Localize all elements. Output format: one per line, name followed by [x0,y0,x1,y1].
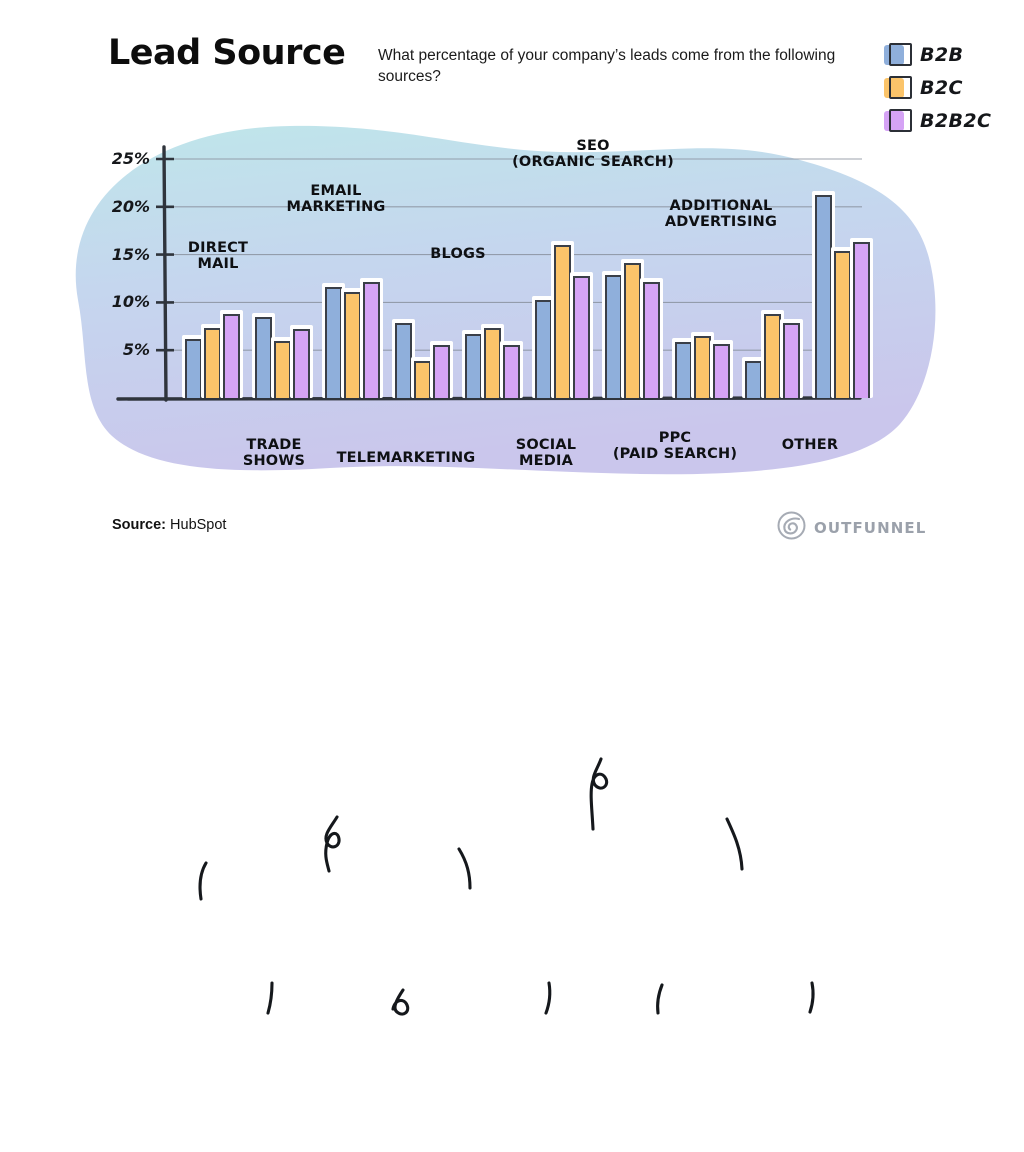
infographic-canvas: Lead Source What percentage of your comp… [0,0,1024,576]
bar-b2b2c-blogs[interactable] [503,345,520,398]
category-label-seo-organic-search: SEO (ORGANIC SEARCH) [490,138,696,170]
bar-b2c-additional-advertising[interactable] [764,314,781,398]
bar-b2c-telemarketing[interactable] [414,361,431,398]
bar-b2b2c-direct-mail[interactable] [223,314,240,398]
bar-b2b2c-email-marketing[interactable] [363,282,380,398]
y-tick-15: 15% [104,245,150,264]
bar-b2b2c-telemarketing[interactable] [433,345,450,398]
category-label-direct-mail: DIRECT MAIL [160,240,276,272]
bar-b2b-seo-organic-search[interactable] [605,275,622,398]
brand-name: OUTFUNNEL [814,519,926,537]
y-tick-25: 25% [104,149,150,168]
legend: B2B B2C B2B2C [884,38,991,137]
y-tick-10: 10% [104,292,150,311]
category-label-telemarketing: TELEMARKETING [326,450,486,466]
bar-b2b-trade-shows[interactable] [255,317,272,398]
bar-b2c-ppc-paid-search[interactable] [694,336,711,398]
y-tick-20: 20% [104,197,150,216]
page-title: Lead Source [108,33,345,73]
bar-b2c-social-media[interactable] [554,245,571,398]
bar-b2b-direct-mail[interactable] [185,339,202,398]
bar-b2c-trade-shows[interactable] [274,341,291,398]
bar-b2b-other[interactable] [815,195,832,398]
bar-b2c-email-marketing[interactable] [344,292,361,398]
bar-b2b-additional-advertising[interactable] [745,361,762,398]
source-value: HubSpot [170,517,226,533]
bar-b2b-blogs[interactable] [465,334,482,398]
source-label: Source: [112,517,166,533]
bar-b2b2c-seo-organic-search[interactable] [643,282,660,398]
bar-b2c-other[interactable] [834,251,851,398]
bar-b2b-ppc-paid-search[interactable] [675,342,692,398]
bar-b2c-blogs[interactable] [484,328,501,398]
outfunnel-logo-icon [777,511,806,545]
bar-b2b2c-additional-advertising[interactable] [783,323,800,398]
legend-item-b2c[interactable]: B2C [884,71,991,104]
category-label-blogs: BLOGS [397,246,519,262]
bar-b2b-email-marketing[interactable] [325,287,342,398]
bar-b2b2c-ppc-paid-search[interactable] [713,344,730,398]
bar-b2b-telemarketing[interactable] [395,323,412,398]
bar-b2b2c-social-media[interactable] [573,276,590,398]
legend-label-b2b2c: B2B2C [920,110,991,132]
source-note: Source: HubSpot [112,517,226,533]
legend-label-b2b: B2B [920,44,963,66]
bar-b2b-social-media[interactable] [535,300,552,398]
bar-b2c-seo-organic-search[interactable] [624,263,641,398]
y-tick-5: 5% [104,340,150,359]
brand-logo: OUTFUNNEL [777,511,926,545]
legend-label-b2c: B2C [920,77,963,99]
legend-swatch-b2b-icon [884,43,910,66]
bar-b2b2c-trade-shows[interactable] [293,329,310,398]
category-label-social-media: SOCIAL MEDIA [498,437,594,469]
category-label-other: OTHER [768,437,852,453]
legend-swatch-b2b2c-icon [884,109,910,132]
category-label-ppc-paid-search: PPC (PAID SEARCH) [595,430,755,462]
page-subtitle: What percentage of your company’s leads … [378,45,848,88]
bar-b2b2c-other[interactable] [853,242,870,398]
pointer-strokes-layer [0,581,1024,1152]
category-label-trade-shows: TRADE SHOWS [222,437,326,469]
category-label-additional-advertising: ADDITIONAL ADVERTISING [650,198,792,230]
legend-item-b2b2c[interactable]: B2B2C [884,104,991,137]
legend-swatch-b2c-icon [884,76,910,99]
legend-item-b2b[interactable]: B2B [884,38,991,71]
bar-b2c-direct-mail[interactable] [204,328,221,398]
category-label-email-marketing: EMAIL MARKETING [268,183,404,215]
